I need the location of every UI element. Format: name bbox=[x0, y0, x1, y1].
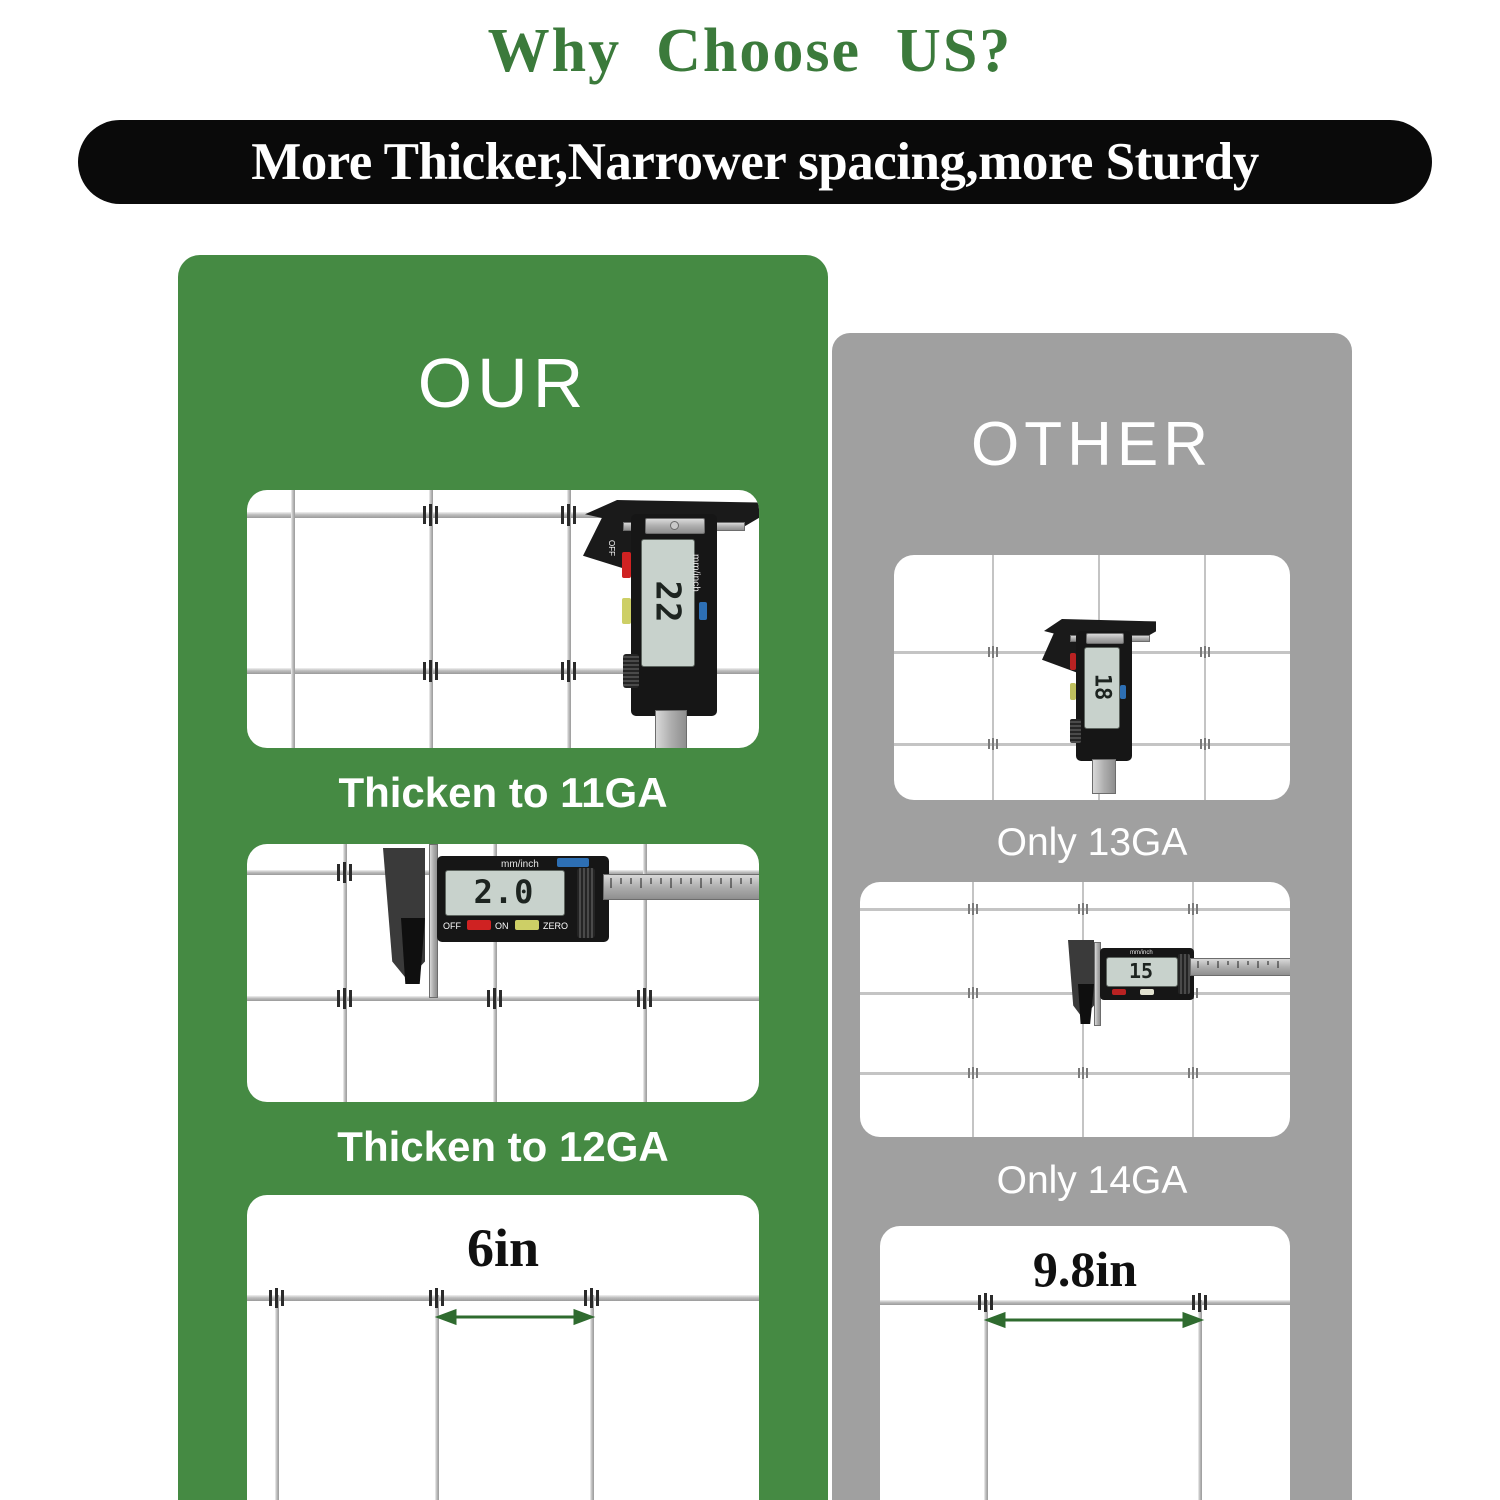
caption-our-11ga: Thicken to 11GA bbox=[178, 769, 828, 817]
digital-caliper-20: mm/inch 2.0 OFF ON ZERO bbox=[375, 844, 759, 1004]
caliper-reading-value: 15 bbox=[1106, 957, 1176, 985]
caliper-reading-value: 18 bbox=[1090, 674, 1112, 701]
page-title: Why Choose US? bbox=[0, 16, 1500, 87]
tagline-banner: More Thicker,Narrower spacing,more Sturd… bbox=[78, 120, 1432, 204]
card-our-12ga: mm/inch 2.0 OFF ON ZERO bbox=[247, 844, 759, 1102]
caption-our-12ga: Thicken to 12GA bbox=[178, 1123, 828, 1171]
caliper-button-zero: ZERO bbox=[543, 922, 568, 931]
caliper-button-on: ON bbox=[495, 922, 509, 931]
panel-other-heading: OTHER bbox=[832, 409, 1352, 480]
caliper-units-label: mm/inch bbox=[1130, 950, 1153, 956]
caption-other-14ga: Only 14GA bbox=[832, 1159, 1352, 1203]
caliper-reading-value: 22 bbox=[650, 581, 684, 624]
caliper-units-label: mm/inch bbox=[501, 859, 539, 870]
spacing-diagram-icon bbox=[880, 1226, 1290, 1500]
caliper-scale-icon bbox=[1194, 961, 1288, 972]
tagline-text: More Thicker,Narrower spacing,more Sturd… bbox=[251, 132, 1259, 192]
card-other-13ga: 18 bbox=[894, 555, 1290, 800]
infographic-root: Why Choose US? More Thicker,Narrower spa… bbox=[0, 0, 1500, 1500]
card-other-spacing: 9.8in bbox=[880, 1226, 1290, 1500]
panel-our: OUR bbox=[178, 255, 828, 1500]
card-other-14ga: mm/inch 15 bbox=[860, 882, 1290, 1137]
caliper-button-zero: ZERO bbox=[607, 626, 615, 648]
panel-other: OTHER bbox=[832, 333, 1352, 1500]
digital-caliper-22: 22 OFF ON ZERO mm/inch bbox=[579, 494, 759, 748]
caliper-button-off: OFF bbox=[607, 540, 615, 556]
spacing-diagram-icon bbox=[247, 1195, 759, 1500]
caption-other-13ga: Only 13GA bbox=[832, 821, 1352, 865]
card-our-11ga: 22 OFF ON ZERO mm/inch bbox=[247, 490, 759, 748]
digital-caliper-15: mm/inch 15 bbox=[1064, 940, 1290, 1032]
caliper-units-label: mm/inch bbox=[690, 554, 701, 592]
caliper-scale-icon bbox=[607, 878, 757, 894]
panel-our-heading: OUR bbox=[178, 343, 828, 423]
caliper-reading-value: 2.0 bbox=[445, 870, 563, 914]
card-our-spacing: 6in bbox=[247, 1195, 759, 1500]
caliper-button-on: ON bbox=[607, 582, 615, 594]
digital-caliper-18: 18 bbox=[1042, 617, 1164, 792]
caliper-button-off: OFF bbox=[443, 922, 461, 931]
